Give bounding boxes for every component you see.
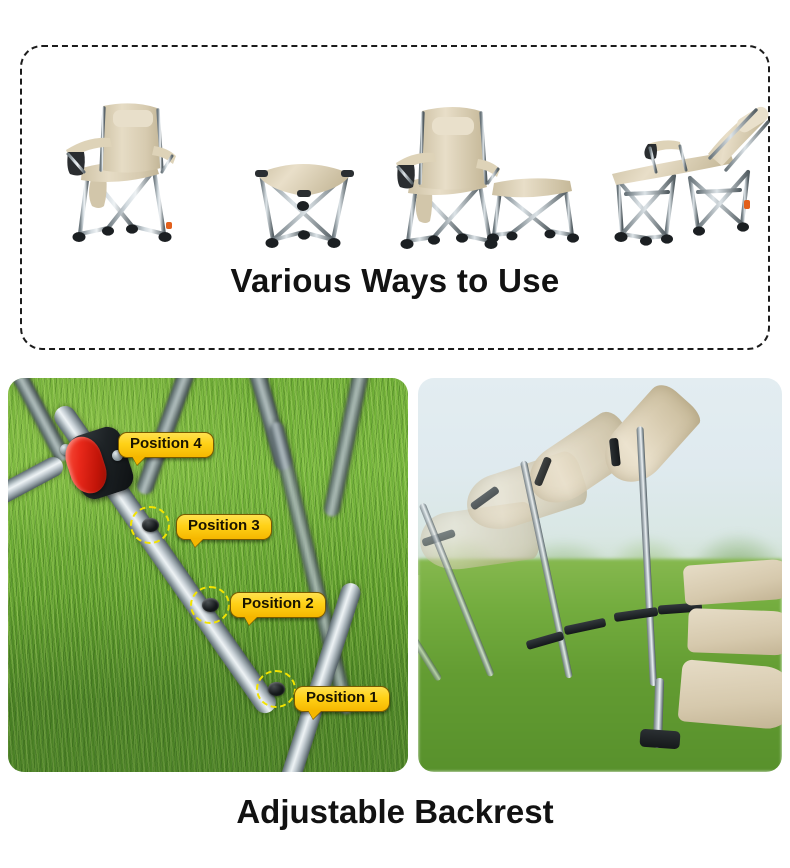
base-hinge-bracket — [639, 729, 680, 750]
top-section-caption: Various Ways to Use — [22, 262, 768, 300]
feature-photo-row: Position 4 Position 3 Position 2 Positio… — [8, 378, 782, 772]
bottom-section-caption: Adjustable Backrest — [0, 793, 790, 831]
adjustment-hole-position-2 — [202, 598, 219, 612]
product-image-folding-stool — [247, 144, 362, 254]
seat-fabric-middle — [687, 608, 782, 656]
seat-fabric-upper — [683, 558, 782, 606]
seat-fabric-lower — [678, 659, 782, 731]
various-ways-panel: Various Ways to Use — [20, 45, 770, 350]
product-image-folding-armchair — [58, 94, 208, 254]
callout-position-4: Position 4 — [118, 432, 214, 458]
product-image-chair-with-footrest — [390, 95, 590, 260]
adjustment-hole-position-3 — [142, 518, 159, 532]
callout-position-2: Position 2 — [230, 592, 326, 618]
callout-position-3: Position 3 — [176, 514, 272, 540]
product-image-reclined-lounger — [608, 96, 778, 256]
backrest-adjustment-holes-photo: Position 4 Position 3 Position 2 Positio… — [8, 378, 408, 772]
callout-position-1: Position 1 — [294, 686, 390, 712]
backrest-recline-angles-photo — [418, 378, 782, 772]
product-configurations-row — [22, 65, 768, 260]
adjustment-hole-position-1 — [268, 682, 285, 696]
